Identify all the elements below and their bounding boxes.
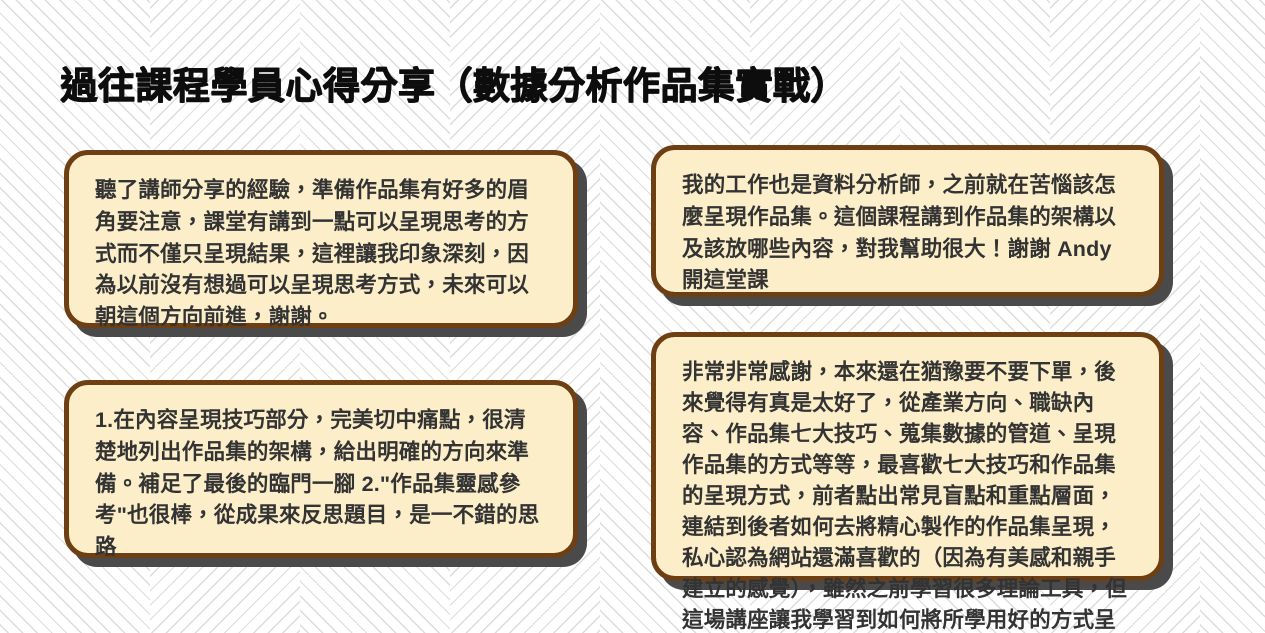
testimonial-text: 1.在內容呈現技巧部分，完美切中痛點，很清楚地列出作品集的架構，給出明確的方向來… <box>95 405 547 564</box>
testimonial-text: 非常非常感謝，本來還在猶豫要不要下單，後來覺得有真是太好了，從產業方向、職缺內容… <box>682 357 1133 633</box>
testimonial-card: 非常非常感謝，本來還在猶豫要不要下單，後來覺得有真是太好了，從產業方向、職缺內容… <box>651 332 1164 581</box>
testimonial-card: 聽了講師分享的經驗，準備作品集有好多的眉角要注意，課堂有講到一點可以呈現思考的方… <box>64 150 578 328</box>
slide-root: 過往課程學員心得分享（數據分析作品集實戰） 聽了講師分享的經驗，準備作品集有好多… <box>0 0 1265 633</box>
testimonial-card: 我的工作也是資料分析師，之前就在苦惱該怎麼呈現作品集。這個課程講到作品集的架構以… <box>651 145 1164 297</box>
hatch-band <box>1200 0 1265 633</box>
page-title: 過往課程學員心得分享（數據分析作品集實戰） <box>60 63 848 109</box>
testimonial-card: 1.在內容呈現技巧部分，完美切中痛點，很清楚地列出作品集的架構，給出明確的方向來… <box>64 380 578 558</box>
testimonial-text: 我的工作也是資料分析師，之前就在苦惱該怎麼呈現作品集。這個課程講到作品集的架構以… <box>682 170 1133 297</box>
testimonial-text: 聽了講師分享的經驗，準備作品集有好多的眉角要注意，課堂有講到一點可以呈現思考的方… <box>95 175 547 334</box>
